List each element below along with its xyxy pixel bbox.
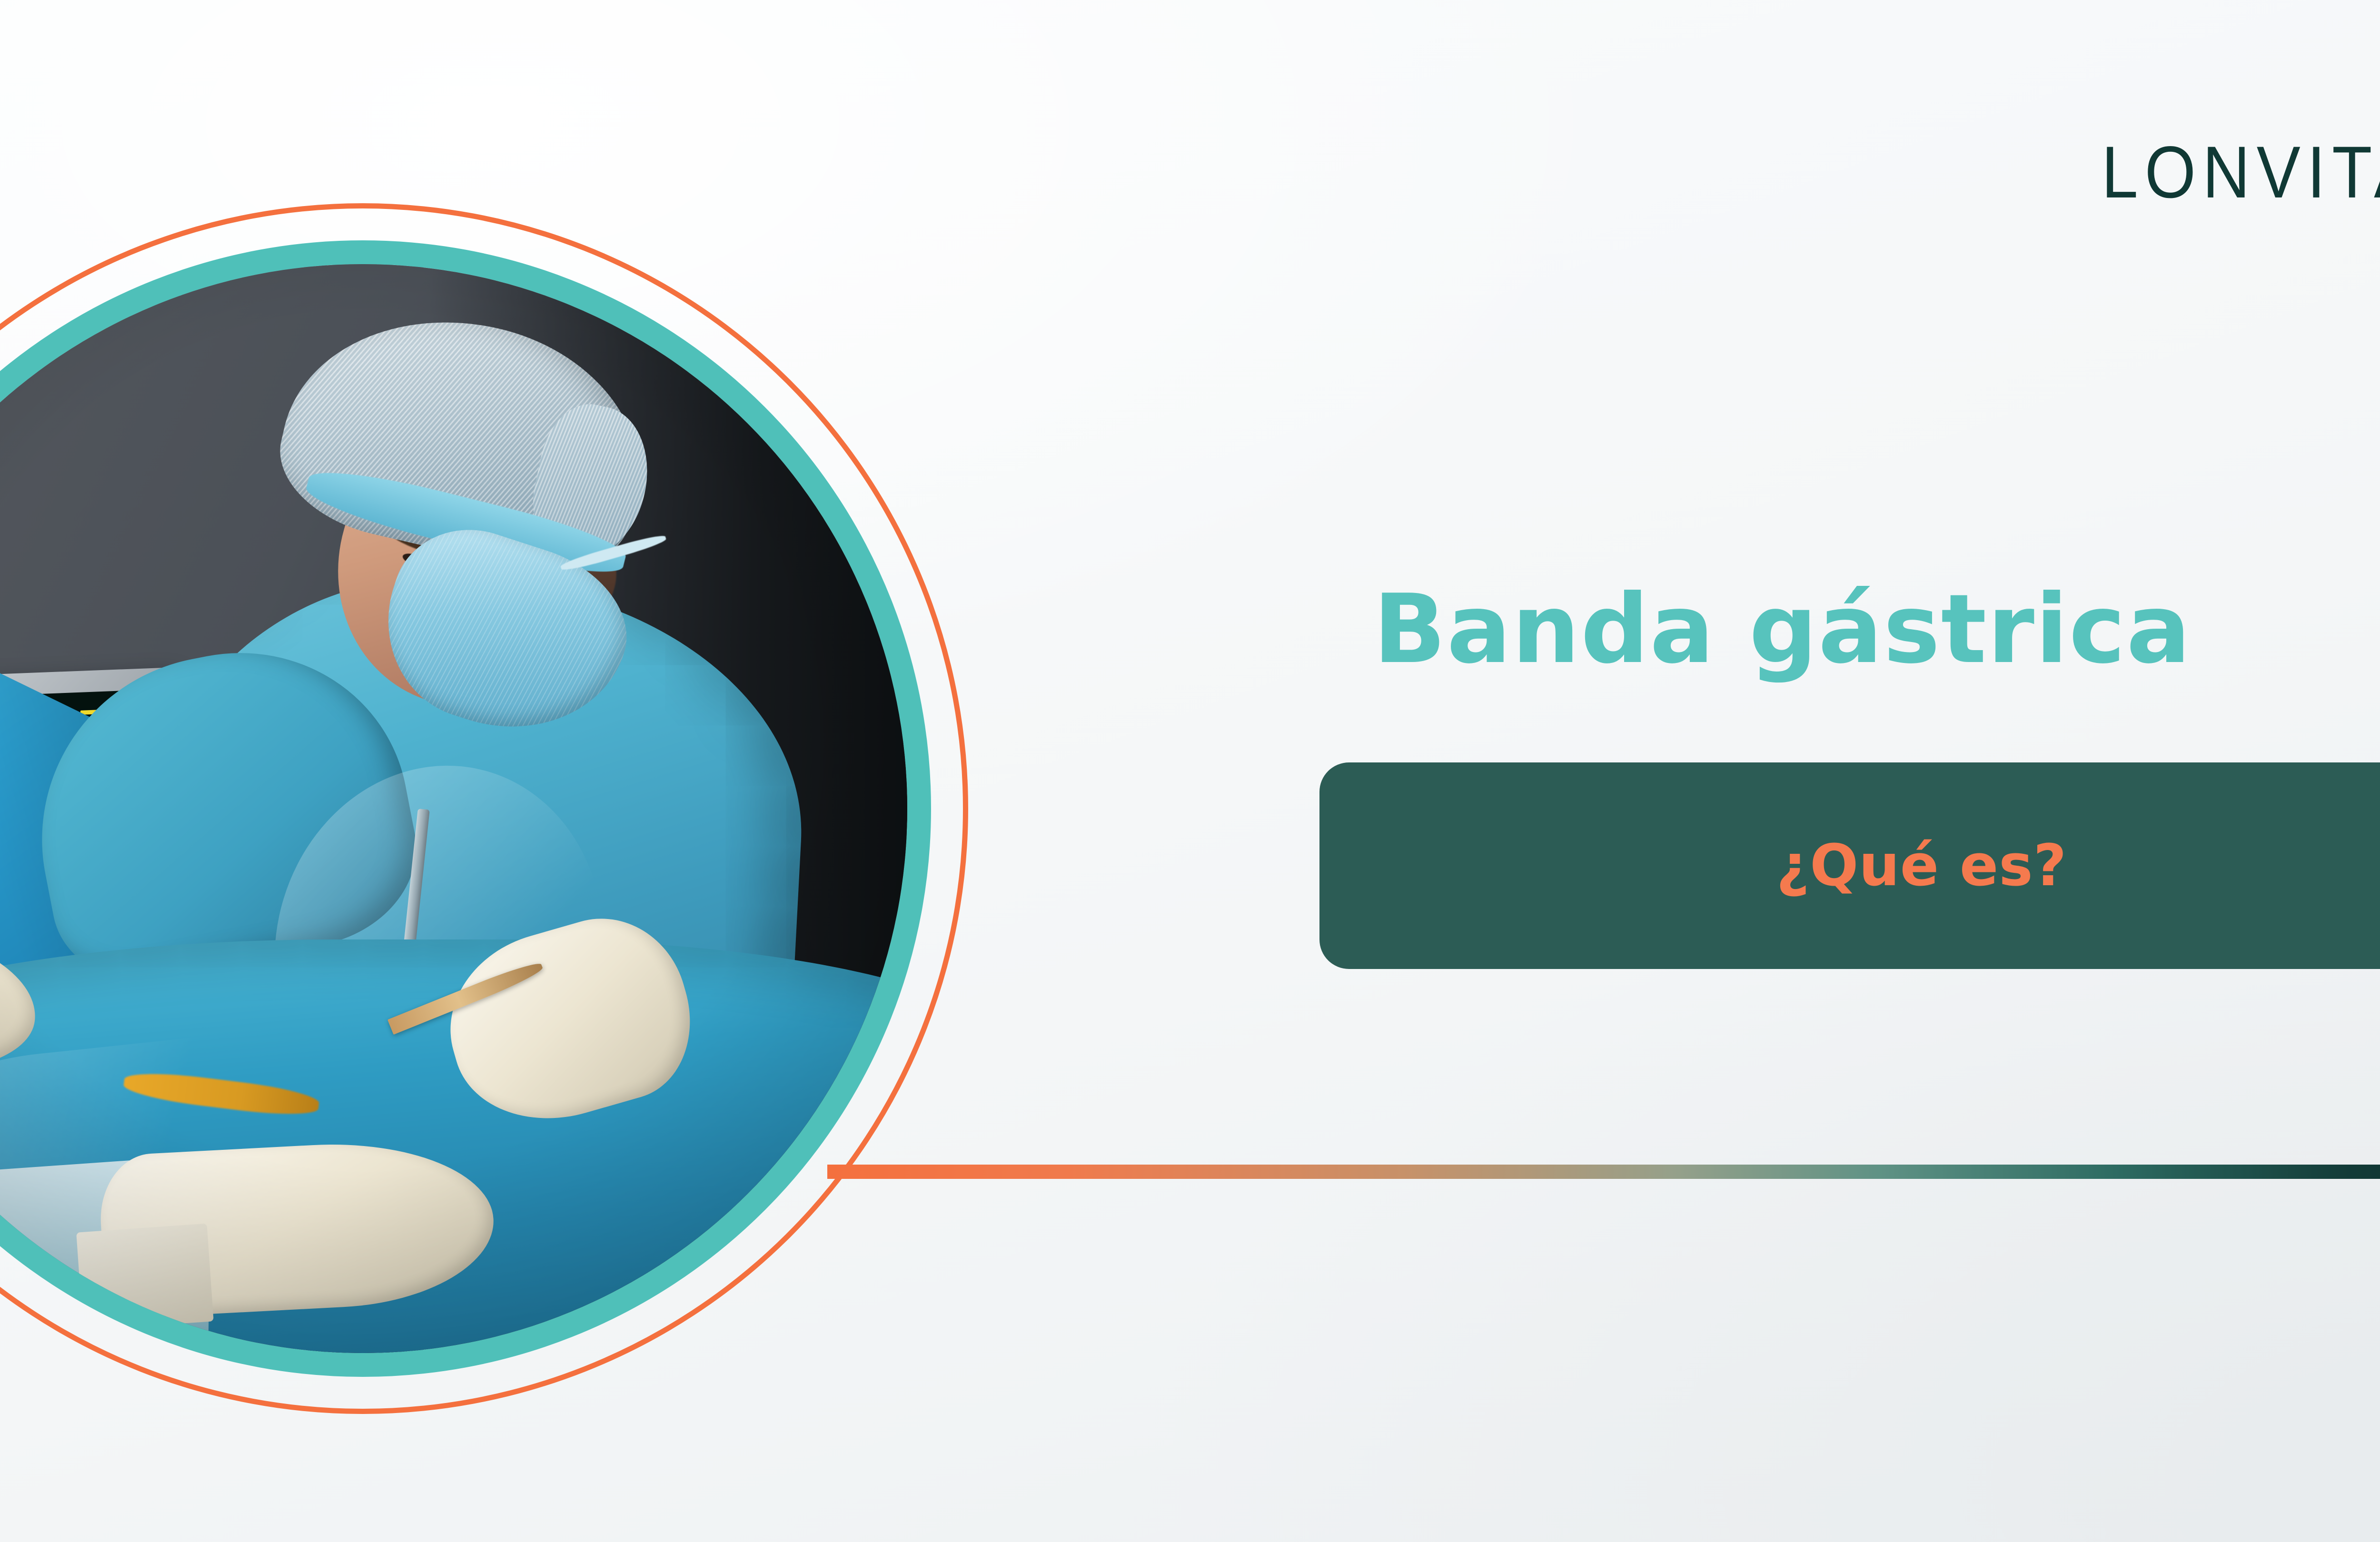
subtitle-bar-label: ¿Qué es? [1319,762,2380,969]
photo-scene [0,264,907,1353]
glove-cuff [76,1224,213,1331]
gradient-divider [827,1165,2380,1179]
page-title: Banda gástrica [1373,580,2192,680]
photo-badge [0,203,968,1414]
subtitle-bar: ¿Qué es? [1319,762,2380,969]
surgery-photo [0,264,907,1353]
brand-logo[interactable]: LONVITAL [2102,136,2380,209]
slide-canvas: LONVITAL Banda gástrica ¿Qué es? [0,0,2380,1542]
